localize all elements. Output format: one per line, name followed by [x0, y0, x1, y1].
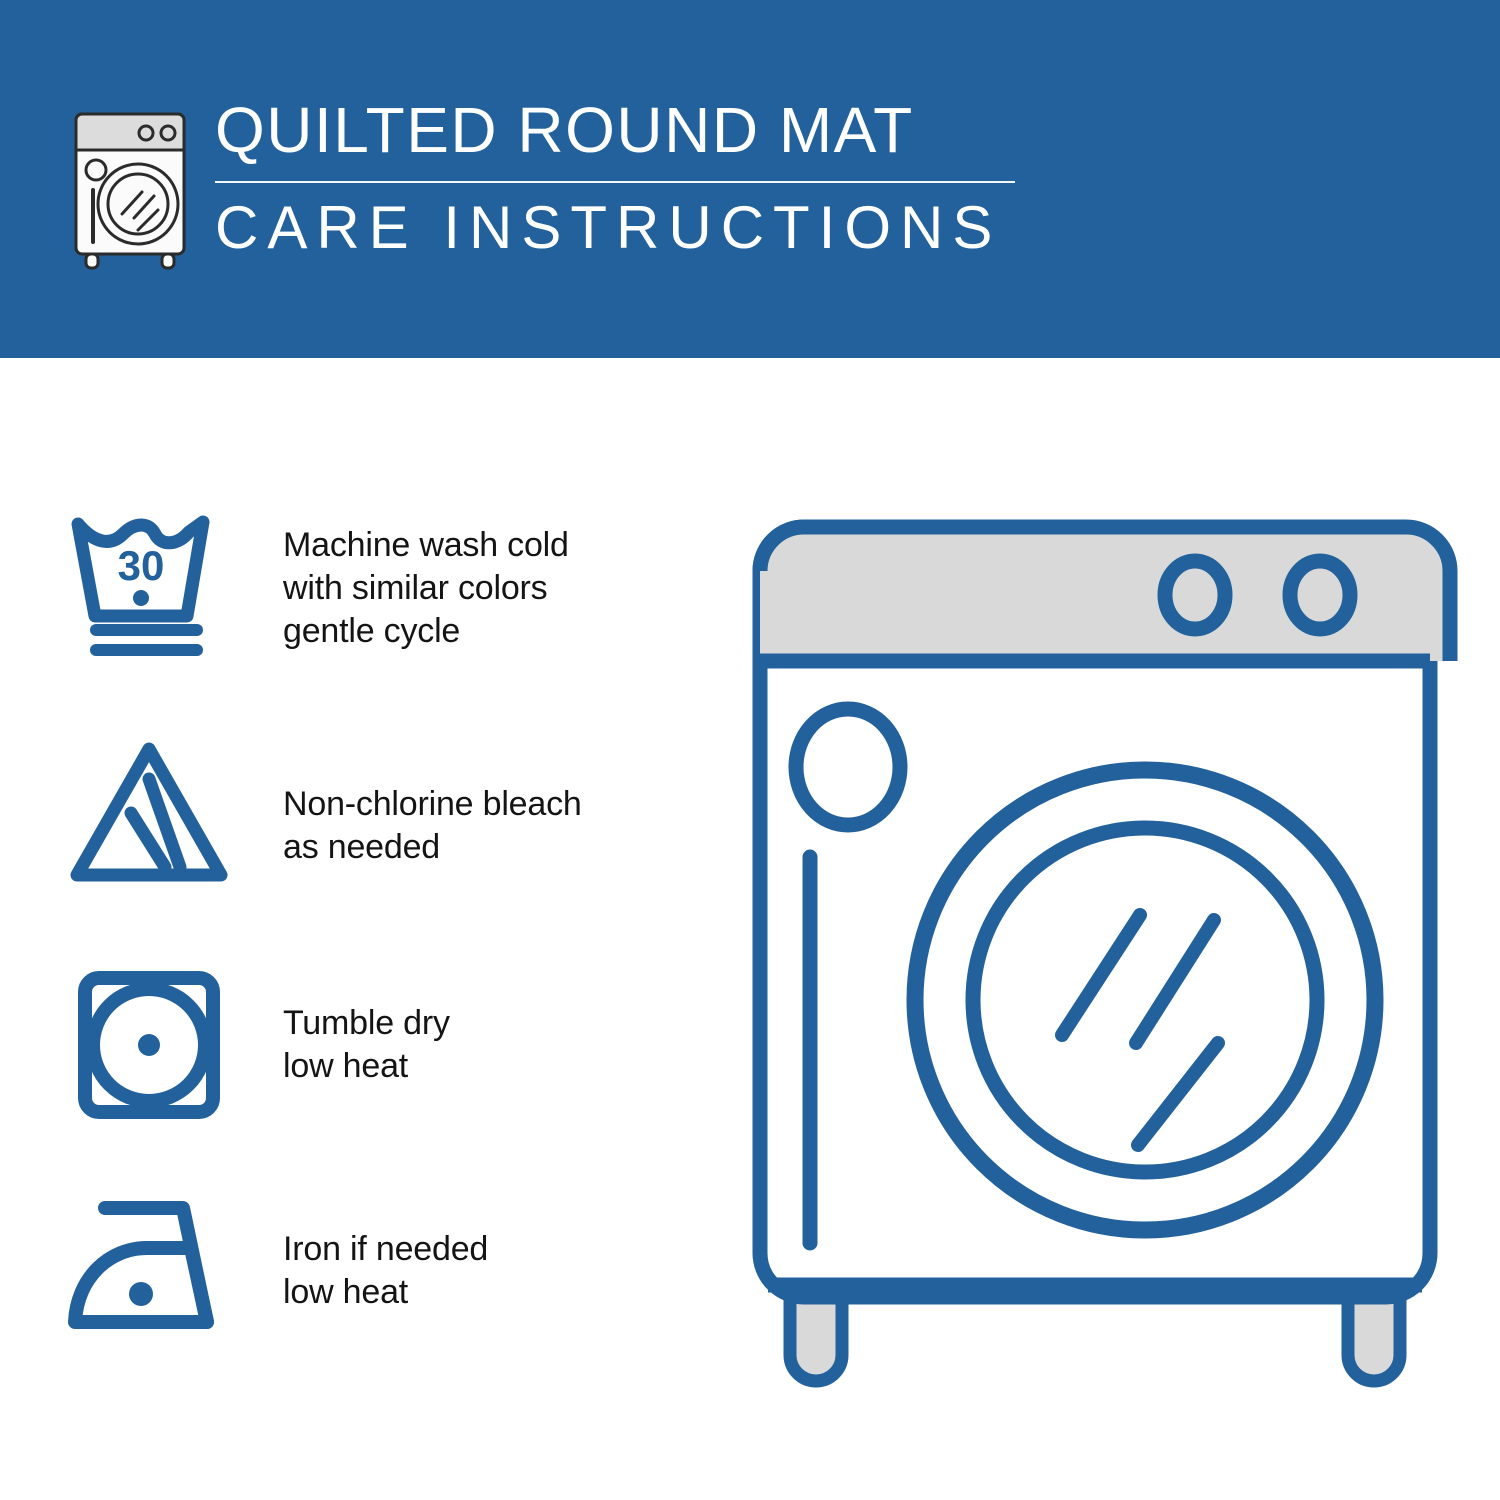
care-row: Iron if needed low heat: [0, 1190, 720, 1390]
care-row: 30 Machine wash cold with similar colors…: [0, 510, 720, 710]
care-row-text: Iron if needed low heat: [283, 1190, 488, 1314]
care-text-line: Non-chlorine bleach: [283, 783, 582, 826]
care-text-line: low heat: [283, 1045, 450, 1088]
care-text-line: low heat: [283, 1271, 488, 1314]
care-row-text: Tumble dry low heat: [283, 970, 450, 1088]
care-text-line: Tumble dry: [283, 1002, 450, 1045]
care-text-line: as needed: [283, 826, 582, 869]
care-text-line: gentle cycle: [283, 610, 569, 653]
header-divider: [215, 181, 1015, 183]
care-text-line: Machine wash cold: [283, 524, 569, 567]
page-title: QUILTED ROUND MAT: [215, 98, 1020, 163]
page-subtitle: CARE INSTRUCTIONS: [215, 197, 1020, 258]
wash-tub-30-icon: 30: [65, 510, 245, 660]
wash-temp-label: 30: [118, 542, 165, 589]
bleach-triangle-icon: [65, 735, 245, 885]
iron-low-heat-icon: [65, 1190, 245, 1340]
care-row-text: Non-chlorine bleach as needed: [283, 735, 582, 869]
care-instructions-page: QUILTED ROUND MAT CARE INSTRUCTIONS 30: [0, 0, 1500, 1500]
care-row: Non-chlorine bleach as needed: [0, 735, 720, 935]
washing-machine-illustration: [740, 495, 1450, 1415]
care-row: Tumble dry low heat: [0, 970, 720, 1170]
care-text-line: with similar colors: [283, 567, 569, 610]
header-band: QUILTED ROUND MAT CARE INSTRUCTIONS: [0, 0, 1500, 358]
tumble-dry-low-icon: [65, 970, 245, 1120]
care-text-line: Iron if needed: [283, 1228, 488, 1271]
care-row-text: Machine wash cold with similar colors ge…: [283, 510, 569, 652]
washing-machine-logo-icon: [60, 100, 200, 270]
header-text-block: QUILTED ROUND MAT CARE INSTRUCTIONS: [215, 98, 1020, 258]
